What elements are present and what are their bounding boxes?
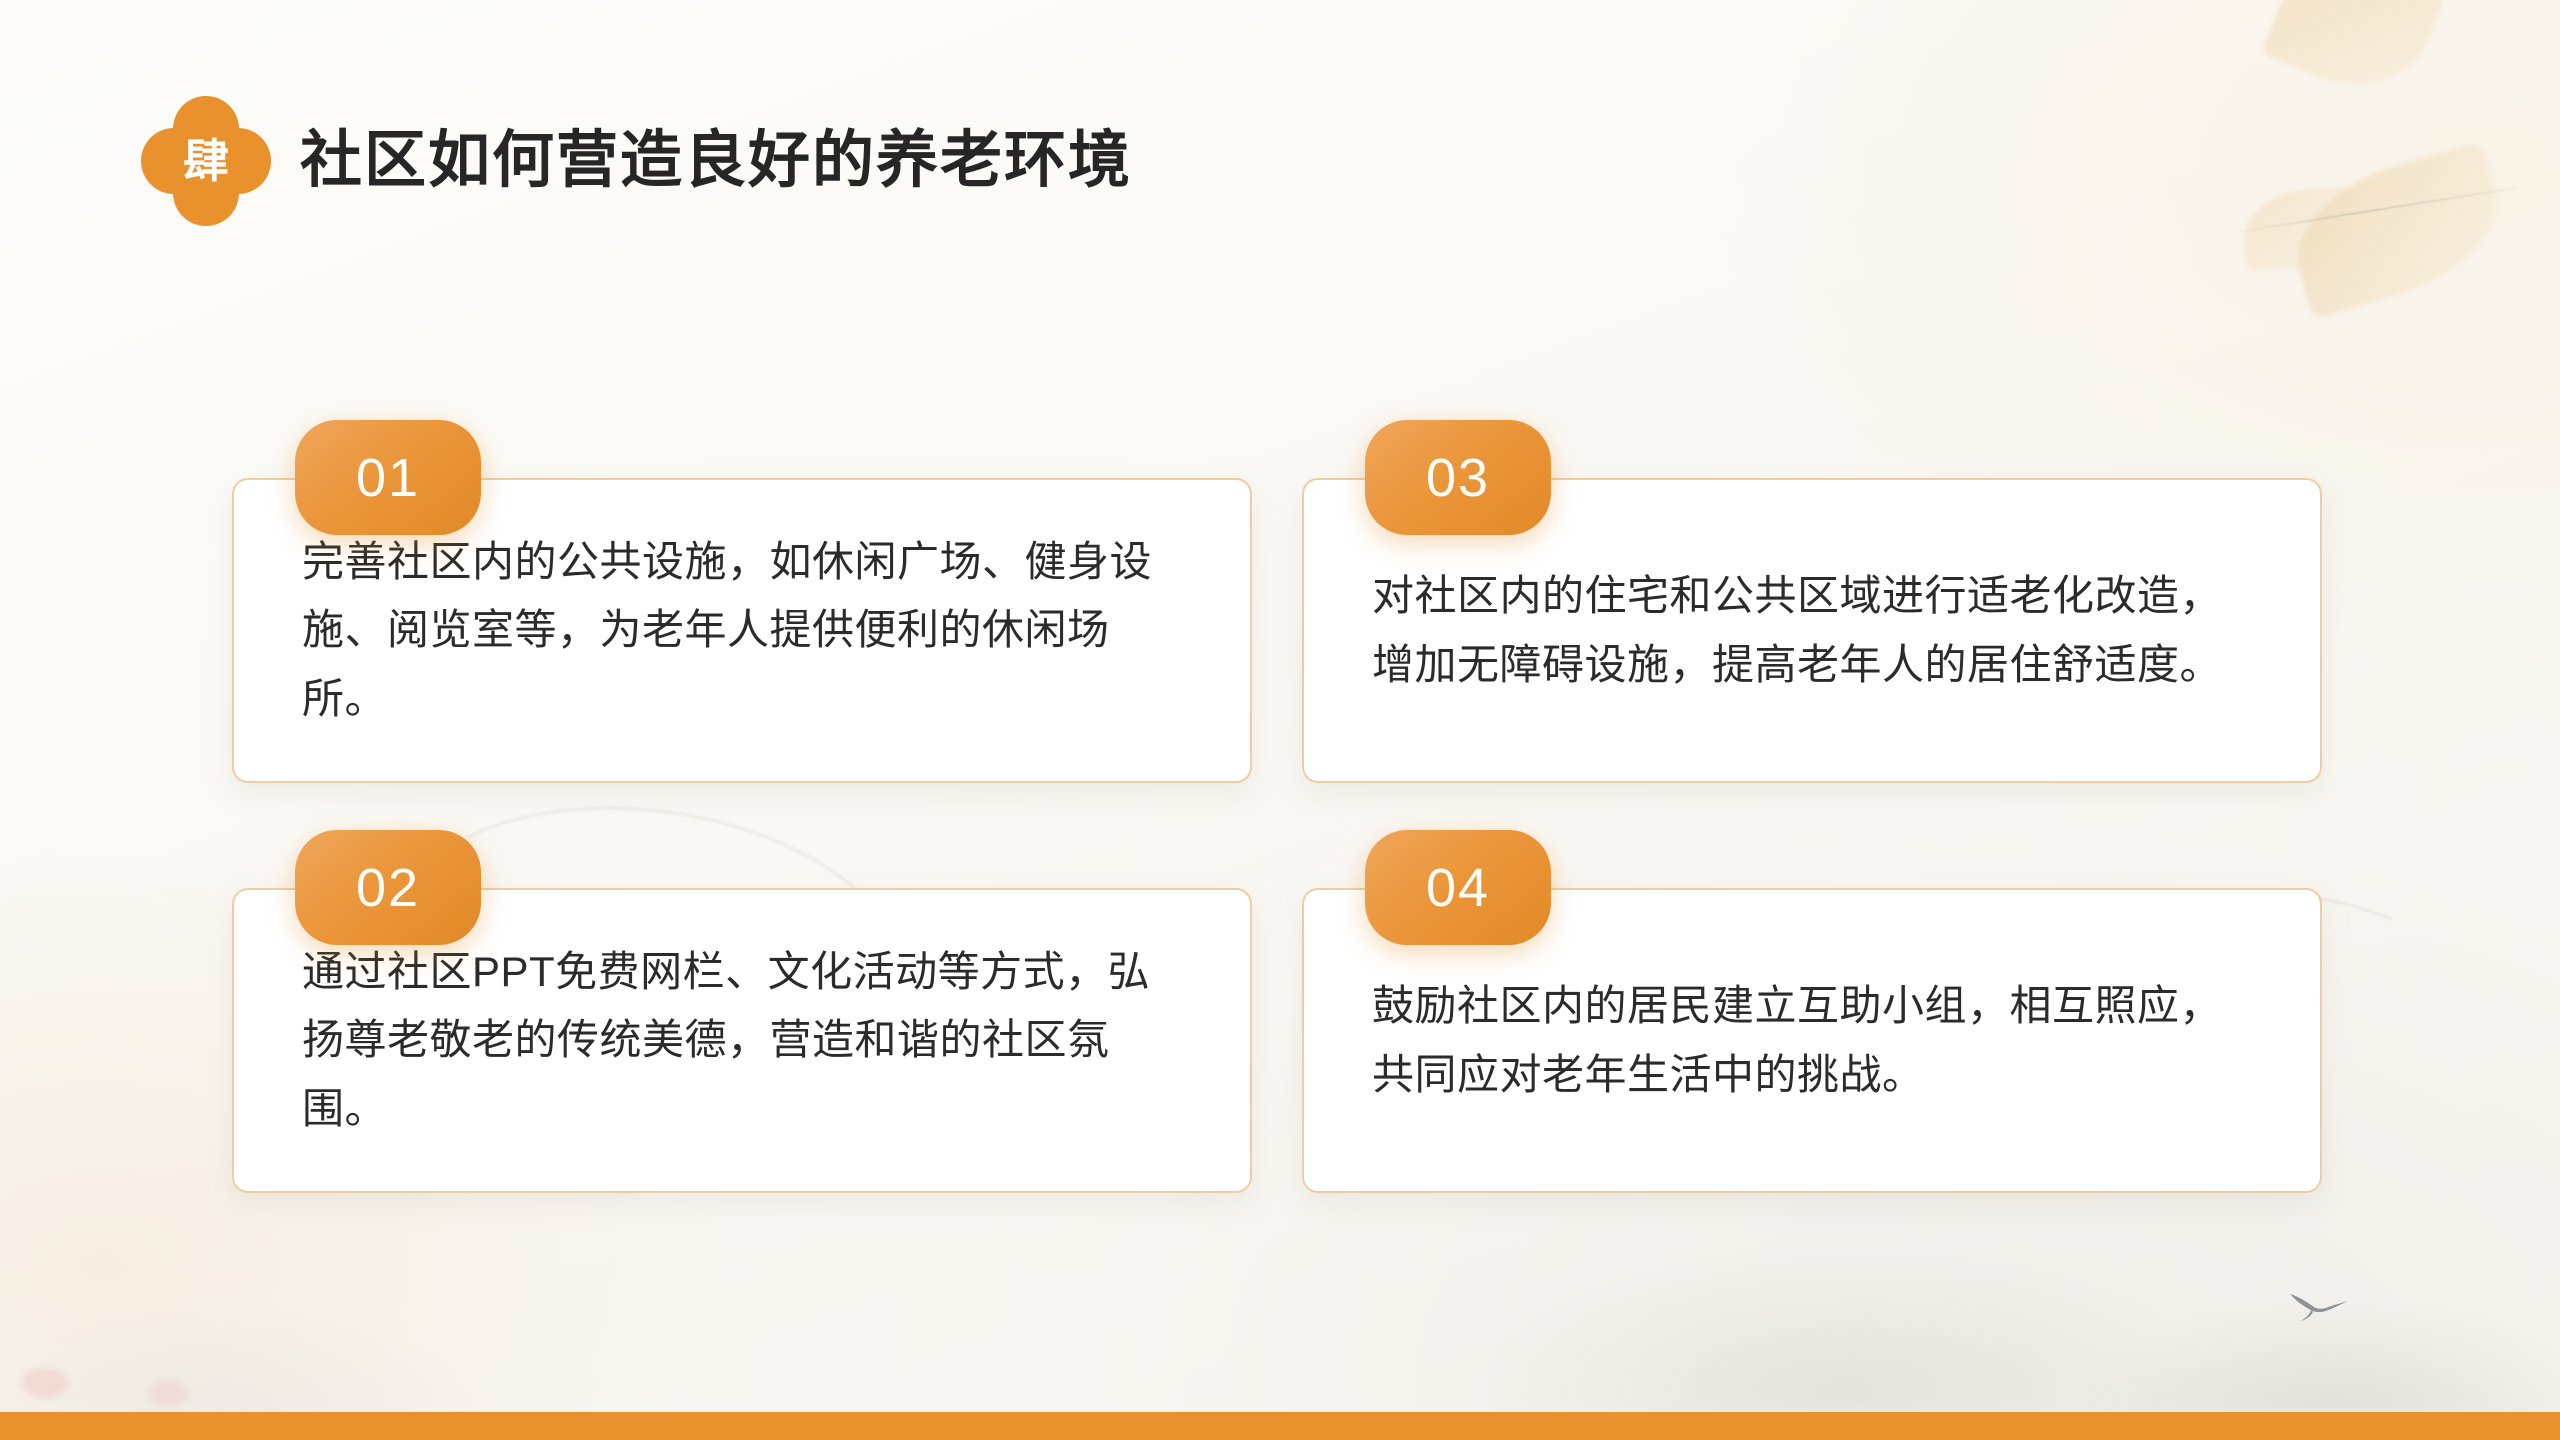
card-text: 完善社区内的公共设施，如休闲广场、健身设施、阅览室等，为老年人提供便利的休闲场所…: [234, 528, 1250, 732]
card-text: 对社区内的住宅和公共区域进行适老化改造，增加无障碍设施，提高老年人的居住舒适度。: [1304, 562, 2320, 698]
slide-header: 肆 社区如何营造良好的养老环境: [140, 88, 1132, 233]
bird-icon: [2288, 1288, 2350, 1322]
petal-decoration: [148, 1380, 188, 1406]
card-number-label: 02: [356, 861, 420, 915]
card-number-label: 03: [1426, 451, 1490, 505]
card-number-badge[interactable]: 04: [1365, 830, 1551, 945]
content-card-01: 01 完善社区内的公共设施，如休闲广场、健身设施、阅览室等，为老年人提供便利的休…: [232, 478, 1252, 783]
card-number-badge[interactable]: 02: [295, 830, 481, 945]
content-card-grid: 01 完善社区内的公共设施，如休闲广场、健身设施、阅览室等，为老年人提供便利的休…: [232, 478, 2322, 1193]
card-number-label: 01: [356, 451, 420, 505]
bottom-accent-bar: [0, 1412, 2560, 1440]
card-number-badge[interactable]: 03: [1365, 420, 1551, 535]
presentation-slide: 肆 社区如何营造良好的养老环境 01 完善社区内的公共设施，如休闲广场、健身设施…: [0, 0, 2560, 1440]
card-text: 鼓励社区内的居民建立互助小组，相互照应，共同应对老年生活中的挑战。: [1304, 972, 2320, 1108]
petal-decoration: [22, 1368, 68, 1398]
card-number-badge[interactable]: 01: [295, 420, 481, 535]
content-card-04: 04 鼓励社区内的居民建立互助小组，相互照应，共同应对老年生活中的挑战。: [1302, 888, 2322, 1193]
content-card-03: 03 对社区内的住宅和公共区域进行适老化改造，增加无障碍设施，提高老年人的居住舒…: [1302, 478, 2322, 783]
content-card-02: 02 通过社区PPT免费网栏、文化活动等方式，弘扬尊老敬老的传统美德，营造和谐的…: [232, 888, 1252, 1193]
card-text: 通过社区PPT免费网栏、文化活动等方式，弘扬尊老敬老的传统美德，营造和谐的社区氛…: [234, 938, 1250, 1142]
card-number-label: 04: [1426, 861, 1490, 915]
page-title: 社区如何营造良好的养老环境: [300, 130, 1132, 192]
seal-character: 肆: [183, 138, 229, 184]
section-number-seal: 肆: [140, 95, 272, 227]
